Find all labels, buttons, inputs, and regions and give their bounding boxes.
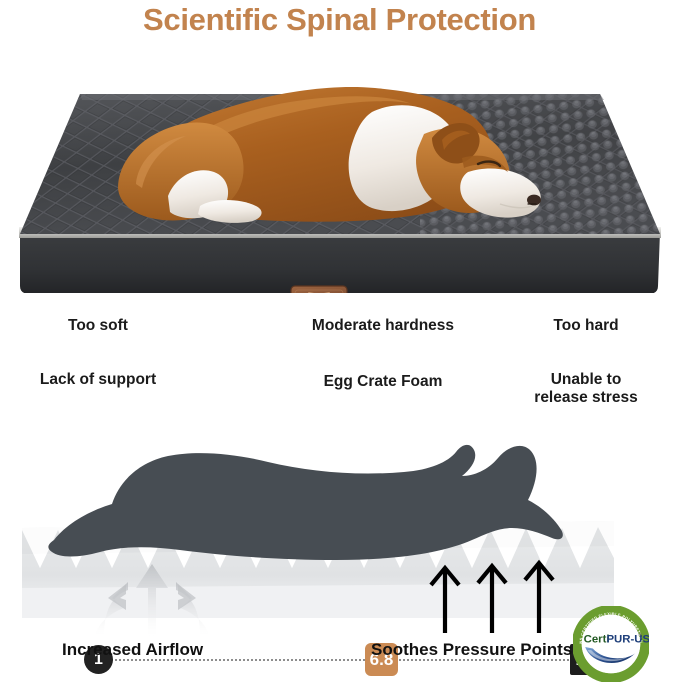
label-soothes-pressure-points: Soothes Pressure Points bbox=[371, 640, 572, 660]
scale-top-label-2: Moderate hardness bbox=[288, 317, 478, 335]
scale-bottom-label-1: Lack of support bbox=[18, 371, 178, 389]
scale-bottom-label-2: Egg Crate Foam bbox=[298, 373, 468, 391]
scale-bottom-label-1-wrap: Lack of support bbox=[18, 371, 178, 389]
bed-base bbox=[20, 232, 660, 293]
scale-top-label-3: Too hard bbox=[510, 317, 662, 335]
cross-section-svg bbox=[0, 418, 679, 638]
foam-cross-section-diagram bbox=[0, 418, 679, 638]
certipur-wordmark: Certi PUR-US ® bbox=[584, 631, 649, 645]
hero-product-image bbox=[0, 48, 679, 293]
page-title: Scientific Spinal Protection bbox=[0, 2, 679, 38]
svg-text:PUR-US: PUR-US bbox=[606, 633, 649, 645]
scale-point-too-hard: Too hard bbox=[510, 317, 662, 335]
certipur-us-badge: CONTAINS CERTIFIED FLEXIBLE POLYURETHANE… bbox=[573, 606, 649, 682]
scale-point-moderate: Moderate hardness bbox=[288, 317, 478, 335]
scale-bottom-label-3-wrap: Unable to release stress bbox=[510, 371, 662, 407]
brand-logo-patch bbox=[291, 286, 347, 293]
label-increased-airflow: Increased Airflow bbox=[62, 640, 203, 660]
scale-bottom-label-2-wrap: Egg Crate Foam bbox=[298, 373, 468, 391]
scale-top-label-1: Too soft bbox=[28, 317, 168, 335]
infographic-page: Scientific Spinal Protection bbox=[0, 0, 679, 686]
scale-bottom-label-3-line2: release stress bbox=[510, 389, 662, 407]
certipur-badge-svg: CONTAINS CERTIFIED FLEXIBLE POLYURETHANE… bbox=[573, 606, 649, 682]
scale-point-too-soft: Too soft bbox=[28, 317, 168, 335]
hardness-scale: Too soft 1 Lack of support Moderate hard… bbox=[0, 305, 679, 410]
scale-bottom-label-3-line1: Unable to bbox=[510, 371, 662, 389]
dog-bed-illustration bbox=[0, 48, 679, 293]
